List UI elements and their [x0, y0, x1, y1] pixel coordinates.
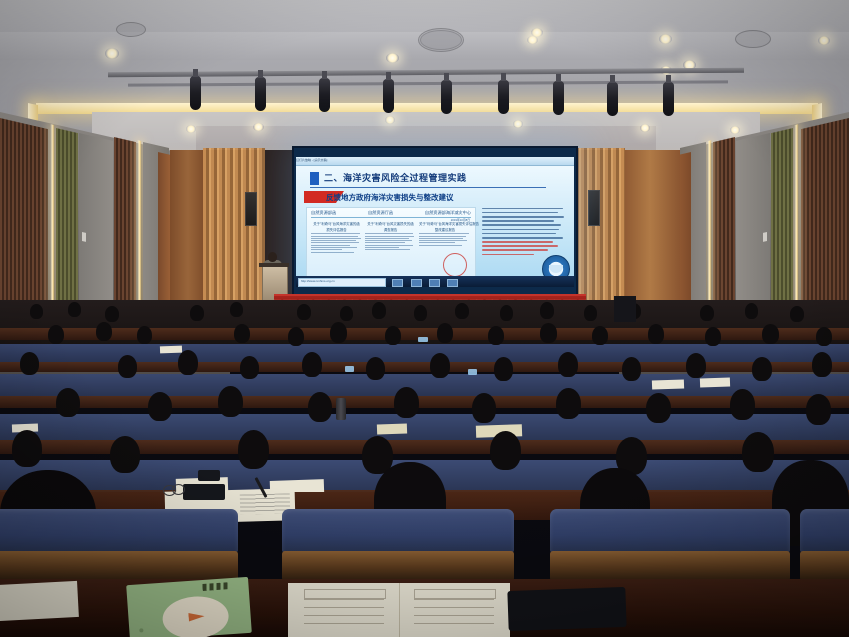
- document-column: 关于"利奇马"台风海洋灾害的函 损失评估报告: [311, 221, 362, 254]
- auditorium-seat[interactable]: [800, 509, 849, 581]
- audience-head: [366, 357, 385, 380]
- taskbar-browser-icon[interactable]: [392, 279, 403, 287]
- downlight: [818, 36, 830, 45]
- audience-head: [68, 302, 81, 317]
- audience-head: [700, 305, 714, 321]
- downlight: [385, 116, 395, 124]
- audience-head: [686, 353, 706, 378]
- phone[interactable]: [198, 470, 220, 481]
- presentation-slide: 幻灯片放映 - [演示文稿] 二、海洋灾害风险全过程管理实践 反馈地方政府海洋灾…: [296, 157, 574, 287]
- downlight: [659, 34, 672, 44]
- audience-head: [806, 394, 831, 425]
- audience-head: [308, 392, 332, 422]
- doc-header-3: 自然资源部海洋减灾中心: [425, 210, 471, 216]
- audience-head: [414, 305, 427, 321]
- audience-head: [20, 352, 39, 375]
- document-header-rule: [311, 217, 471, 218]
- downlight: [531, 28, 543, 37]
- audience-head: [178, 350, 198, 375]
- audience-head: [558, 352, 578, 377]
- audience-head: [742, 432, 774, 472]
- notebook-line: [304, 615, 384, 616]
- notebook-line: [304, 599, 384, 600]
- audience-head: [455, 303, 469, 319]
- downlight: [527, 36, 538, 44]
- doc-col-sub-3: 整改建议报告: [419, 227, 471, 232]
- stage-wood-wall-right: [620, 150, 680, 310]
- stage-spotlight: [255, 77, 266, 111]
- audience-head: [488, 326, 504, 345]
- laptop-screen-glow: [418, 337, 428, 342]
- audience-head: [288, 327, 304, 346]
- audience-head: [745, 303, 758, 319]
- auditorium-seat[interactable]: [282, 509, 514, 581]
- audience-head: [705, 327, 721, 346]
- stage-curtain-left: [203, 148, 265, 308]
- paper-document: [0, 581, 79, 621]
- audience-head: [340, 306, 353, 321]
- notebook-dot: [139, 628, 143, 632]
- thermos-cup: [336, 398, 346, 420]
- document-columns: 关于"利奇马"台风海洋灾害的函 损失评估报告 关于"利奇马"台风灾害损失的函 调…: [311, 221, 471, 254]
- auditorium-seat[interactable]: [550, 509, 790, 581]
- audience-head: [56, 388, 80, 417]
- doc-header-1: 自然资源部函: [311, 210, 336, 216]
- doc-col-title-2: 关于"利奇马"台风灾害损失的函: [365, 221, 416, 226]
- speaker-column-right: [588, 190, 600, 226]
- stage-spotlight: [553, 81, 564, 115]
- audience-head: [592, 326, 608, 345]
- audience-head: [622, 357, 641, 381]
- audience-head: [372, 302, 386, 319]
- slide-subtitle-block: 反馈地方政府海洋灾害损失与整改建议: [304, 191, 554, 203]
- notebook-header-box: [304, 589, 386, 599]
- downlight: [730, 126, 740, 134]
- downlight: [513, 120, 523, 128]
- audience-head: [540, 323, 557, 343]
- seat-cushion: [550, 509, 790, 553]
- audience-head: [240, 356, 259, 379]
- downlight: [640, 124, 650, 132]
- green-notebook[interactable]: [126, 577, 252, 637]
- notebook-line: [414, 599, 494, 600]
- foreground-seat-row: [0, 509, 849, 581]
- speaker-column-left: [245, 192, 257, 226]
- audience-head: [230, 302, 243, 317]
- stage-spotlight: [383, 79, 394, 113]
- seat-cushion: [282, 509, 514, 553]
- ceiling-vent: [116, 22, 146, 37]
- notebook-line: [414, 623, 494, 624]
- slide-section-title: 二、海洋灾害风险全过程管理实践: [324, 171, 467, 184]
- audience-head: [430, 353, 450, 378]
- address-bar[interactable]: http://www.nmhms.org.cn: [298, 278, 386, 287]
- audience-head: [234, 324, 250, 343]
- audience-head: [118, 355, 137, 378]
- audience-head: [48, 325, 64, 344]
- audience-head: [394, 387, 419, 418]
- audience-head: [812, 352, 832, 377]
- phone-screen-glow: [345, 366, 354, 372]
- door-lock-plate[interactable]: [82, 232, 86, 242]
- audience-head: [218, 386, 243, 417]
- taskbar-folder-icon[interactable]: [411, 279, 422, 287]
- audience-head: [762, 324, 779, 344]
- official-seal-stamp: [443, 253, 467, 277]
- taskbar-document-icon[interactable]: [429, 279, 440, 287]
- downlight: [253, 123, 264, 131]
- doc-header-2: 自然资源厅函: [368, 210, 393, 216]
- audience-head: [494, 357, 513, 381]
- audience-head: [584, 305, 597, 321]
- glasses-icon: [172, 484, 185, 495]
- slide-body-text: [482, 205, 566, 258]
- presenter-head: [268, 252, 277, 262]
- windows-taskbar[interactable]: http://www.nmhms.org.cn: [296, 276, 574, 287]
- phone-screen-glow: [468, 369, 477, 375]
- downlight: [105, 48, 119, 59]
- audience-head: [330, 322, 347, 343]
- audience-head: [238, 430, 269, 469]
- slide-title-block: 二、海洋灾害风险全过程管理实践: [310, 171, 560, 188]
- stage-spotlight: [190, 76, 201, 110]
- audience-head: [96, 322, 112, 341]
- phone[interactable]: [183, 484, 225, 500]
- auditorium-seat[interactable]: [0, 509, 238, 581]
- stage-spotlight: [607, 82, 618, 116]
- audience-head: [105, 306, 119, 322]
- audience-head: [556, 388, 581, 419]
- audience-head: [490, 431, 521, 470]
- seat-wood-trim: [550, 551, 790, 581]
- audience-head: [302, 352, 322, 377]
- stage-wood-wall-left: [170, 150, 206, 310]
- window-title: 幻灯片放映 - [演示文稿]: [296, 158, 327, 162]
- stage-spotlight: [663, 82, 674, 116]
- address-value: http://www.nmhms.org.cn: [301, 279, 335, 283]
- seat-wood-trim: [282, 551, 514, 581]
- doc-col-title-3: 关于"利奇马"台风海洋灾害损失评估报告: [419, 221, 471, 226]
- audience-head: [790, 306, 804, 322]
- ceiling-speaker: [418, 28, 464, 52]
- audience-head: [500, 305, 513, 321]
- seat-cushion: [800, 509, 849, 553]
- av-equipment-rack: [614, 296, 636, 322]
- document-image-card: 自然资源部函 自然资源厅函 自然资源部海洋减灾中心 2019年10月8日 关于"…: [306, 207, 476, 283]
- stage-spotlight: [441, 80, 452, 114]
- audience-head: [472, 393, 496, 423]
- notebook-line: [304, 623, 384, 624]
- doc-col-sub-2: 调查报告: [365, 227, 416, 232]
- podium-top: [259, 263, 289, 267]
- audience-head: [137, 326, 152, 344]
- taskbar-media-icon[interactable]: [447, 279, 458, 287]
- black-wallet[interactable]: [507, 587, 626, 631]
- title-accent-bar: [310, 172, 319, 185]
- notebook-header-box: [414, 589, 496, 599]
- notebook-spine: [399, 583, 400, 637]
- audience-head: [752, 357, 772, 381]
- door-lock-plate[interactable]: [763, 232, 767, 242]
- audience-head: [30, 304, 43, 319]
- document-column: 关于"利奇马"台风海洋灾害损失评估报告 整改建议报告: [419, 221, 471, 254]
- audience-head: [540, 302, 554, 319]
- stage-spotlight: [498, 80, 509, 114]
- document-column: 关于"利奇马"台风灾害损失的函 调查报告: [365, 221, 416, 254]
- paper-document: [160, 346, 182, 354]
- audience-head: [385, 326, 401, 345]
- audience-head: [730, 389, 755, 420]
- audience-head: [297, 304, 311, 320]
- downlight: [186, 125, 196, 133]
- notebook-line: [304, 607, 384, 608]
- notebook-line: [414, 607, 494, 608]
- document-headers: 自然资源部函 自然资源厅函 自然资源部海洋减灾中心: [311, 210, 471, 216]
- seat-cushion: [0, 509, 238, 553]
- notebook-page: [377, 423, 407, 434]
- seat-wood-trim: [0, 551, 238, 581]
- audience-head: [437, 323, 453, 343]
- notebook-title-text: [202, 582, 228, 591]
- paper-document: [700, 377, 730, 387]
- audience-head: [816, 327, 832, 346]
- audience-head: [110, 436, 140, 473]
- doc-col-title-1: 关于"利奇马"台风海洋灾害的函: [311, 221, 362, 226]
- doc-col-sub-1: 损失评估报告: [311, 227, 362, 232]
- slide-subtitle: 反馈地方政府海洋灾害损失与整改建议: [326, 192, 454, 203]
- auditorium-scene: 幻灯片放映 - [演示文稿] 二、海洋灾害风险全过程管理实践 反馈地方政府海洋灾…: [0, 0, 849, 637]
- stage-spotlight: [319, 78, 330, 112]
- audience-head: [646, 393, 671, 423]
- paper-document: [652, 379, 684, 389]
- open-notebook[interactable]: [288, 583, 510, 637]
- audience-head: [148, 392, 172, 421]
- notebook-line: [414, 615, 494, 616]
- downlight: [386, 53, 399, 63]
- audience-head: [190, 305, 204, 321]
- ceiling-vent: [735, 30, 771, 48]
- audience-head: [648, 324, 664, 344]
- audience-head: [12, 430, 42, 467]
- projection-screen: 幻灯片放映 - [演示文稿] 二、海洋灾害风险全过程管理实践 反馈地方政府海洋灾…: [292, 146, 578, 300]
- title-underline: [310, 187, 546, 188]
- seat-wood-trim: [800, 551, 849, 581]
- powerpoint-titlebar: 幻灯片放映 - [演示文稿]: [296, 157, 574, 166]
